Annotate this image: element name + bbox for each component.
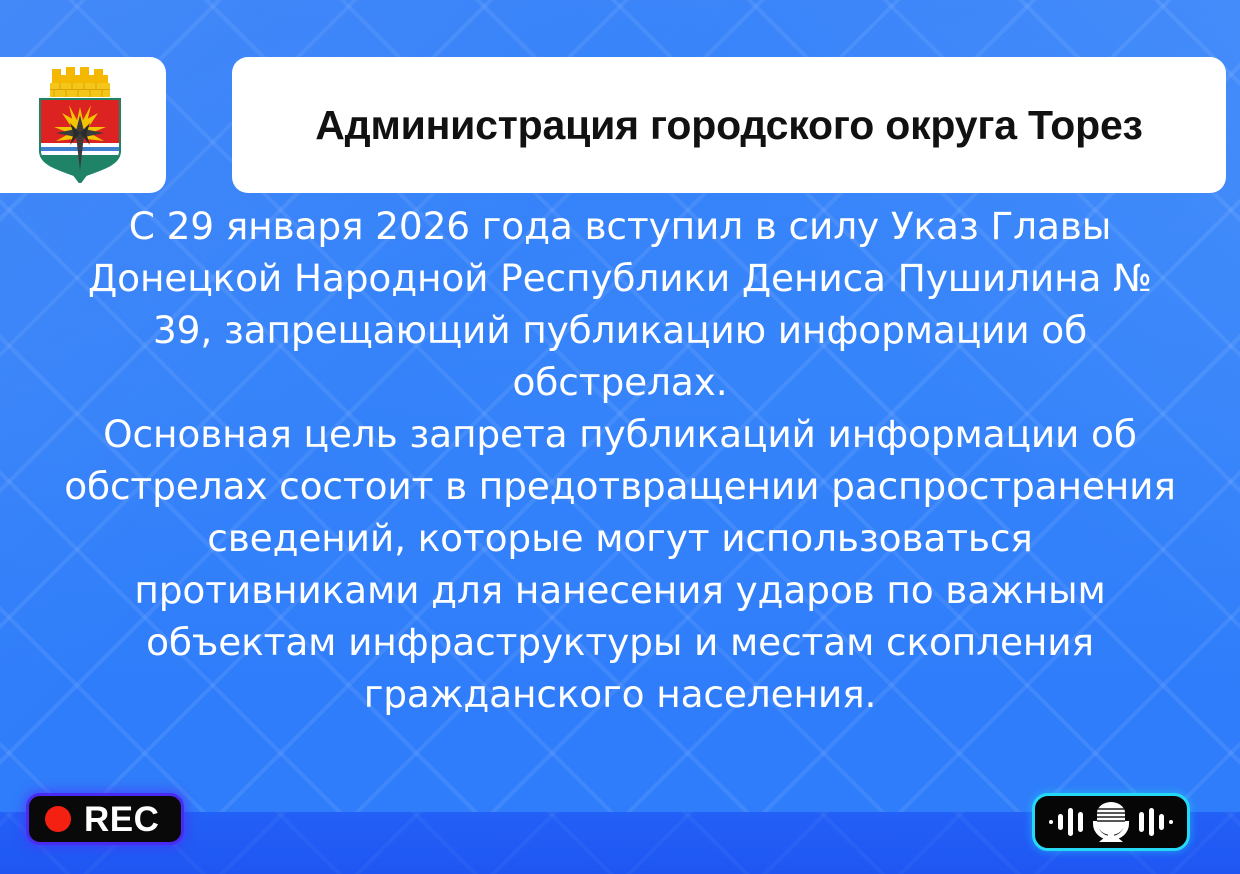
page-title: Администрация городского округа Торез — [315, 102, 1142, 149]
presentation-slide: Администрация городского округа Торез С … — [0, 0, 1240, 874]
record-dot-icon — [45, 806, 71, 832]
mic-badge — [1032, 793, 1190, 851]
emblem-card — [0, 57, 166, 193]
announcement-paragraph-2: Основная цель запрета публикаций информа… — [62, 408, 1178, 720]
title-card: Администрация городского округа Торез — [232, 57, 1226, 193]
rec-badge: REC — [26, 793, 184, 845]
microphone-waveform-icon — [1047, 800, 1175, 844]
announcement-text: С 29 января 2026 года вступил в силу Ука… — [62, 200, 1178, 720]
coat-of-arms-torez-icon — [18, 67, 132, 183]
announcement-paragraph-1: С 29 января 2026 года вступил в силу Ука… — [62, 200, 1178, 408]
rec-label: REC — [84, 802, 159, 837]
